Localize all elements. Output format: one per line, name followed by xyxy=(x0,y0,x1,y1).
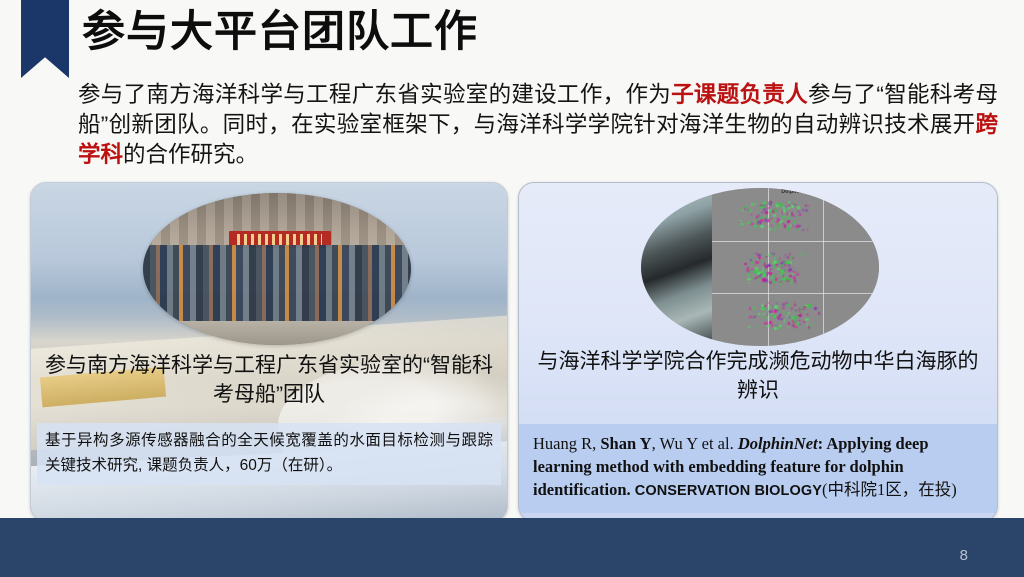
citation-journal: CONSERVATION BIOLOGY xyxy=(635,483,822,499)
photo-ground xyxy=(143,321,411,345)
page-number: 8 xyxy=(960,547,968,564)
left-card-subtext: 基于异构多源传感器融合的全天候宽覆盖的水面目标检测与跟踪关键技术研究, 课题负责… xyxy=(37,423,501,485)
slide-root: 参与大平台团队工作 参与了南方海洋科学与工程广东省实验室的建设工作，作为子课题负… xyxy=(0,0,1024,577)
feature-map-grid xyxy=(712,188,879,346)
right-card-caption: 与海洋科学学院合作完成濒危动物中华白海豚的辨识 xyxy=(535,347,981,405)
photo-people-row xyxy=(143,245,411,324)
dolphin-photo xyxy=(641,188,712,346)
body-highlight-1: 子课题负责人 xyxy=(671,82,808,107)
citation-title-italic: DolphinNet xyxy=(738,434,818,453)
citation-authors-pre: Huang R, xyxy=(533,434,600,453)
right-content-card: DolphinNet 与海洋科学学院合作完成濒危动物中华白海豚的辨识 Huang… xyxy=(518,182,998,522)
left-content-card: 参与南方海洋科学与工程广东省实验室的“智能科考母船”团队 基于异构多源传感器融合… xyxy=(30,182,508,522)
citation-journal-suffix: (中科院1区，在投) xyxy=(822,480,957,499)
bookmark-ribbon-icon xyxy=(21,0,69,78)
citation-authors-post: , Wu Y et al. xyxy=(652,434,738,453)
dolphinnet-image-label: DolphinNet xyxy=(712,189,879,195)
team-photo-oval xyxy=(143,193,411,345)
slide-footer-bar: 8 xyxy=(0,518,1024,577)
body-paragraph: 参与了南方海洋科学与工程广东省实验室的建设工作，作为子课题负责人参与了“智能科考… xyxy=(78,80,998,170)
body-part-3: 的合作研究。 xyxy=(123,142,258,167)
publication-citation: Huang R, Shan Y, Wu Y et al. DolphinNet:… xyxy=(519,424,997,513)
page-title: 参与大平台团队工作 xyxy=(82,9,478,55)
dolphinnet-image-oval: DolphinNet xyxy=(641,188,879,346)
citation-author-highlight: Shan Y xyxy=(600,434,651,453)
body-part-1: 参与了南方海洋科学与工程广东省实验室的建设工作，作为 xyxy=(78,82,671,107)
left-card-caption: 参与南方海洋科学与工程广东省实验室的“智能科考母船”团队 xyxy=(45,351,493,409)
